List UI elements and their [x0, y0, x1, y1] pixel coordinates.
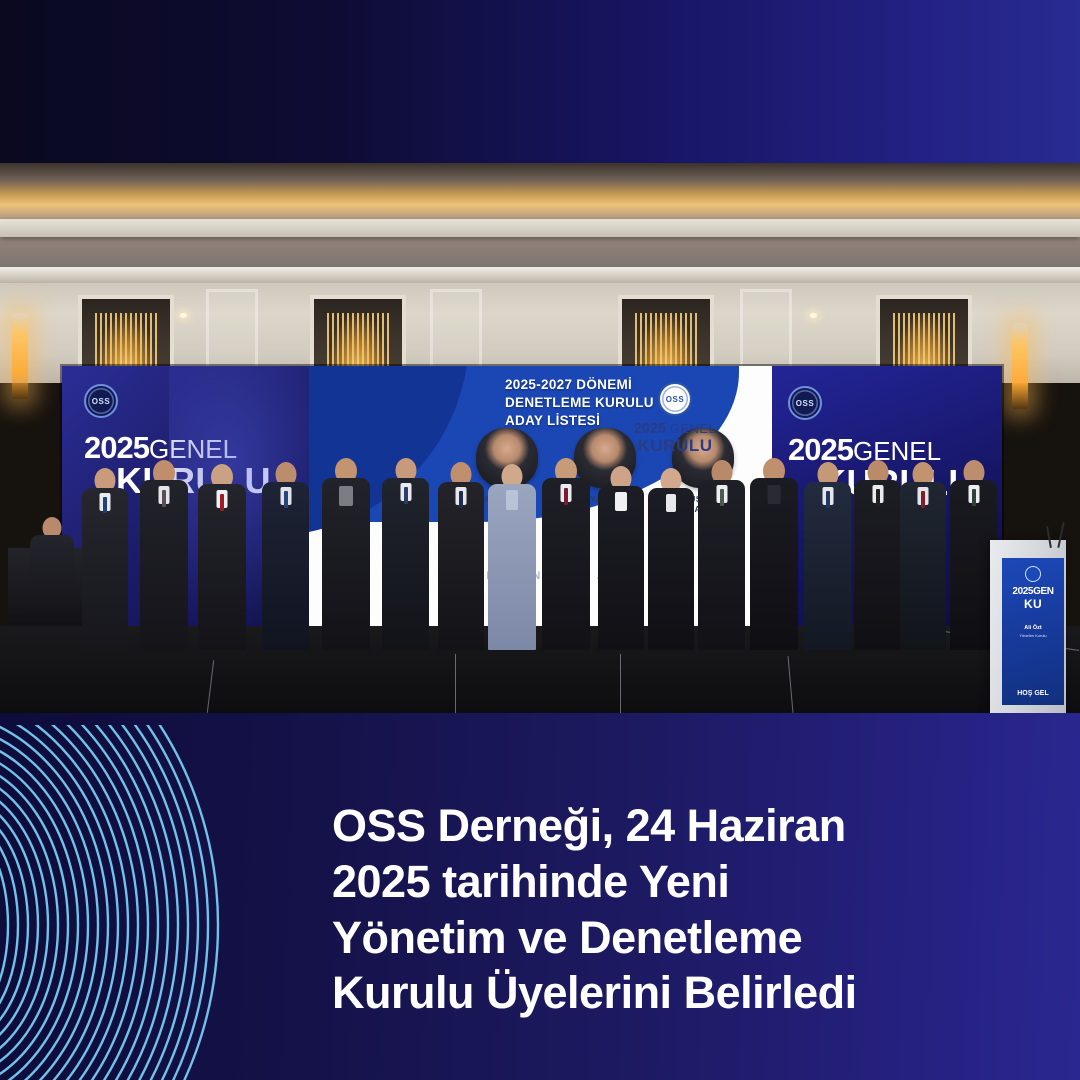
person-tie: [103, 497, 107, 513]
lectern-welcome-text: HOŞ GEL: [1002, 690, 1064, 697]
headline-line-2: 2025 tarihinde Yeni: [332, 854, 972, 910]
person-figure-seated: [30, 517, 74, 613]
person-figure: [82, 468, 128, 650]
oss-logo-icon: OSS: [658, 382, 692, 416]
person-shirt: [768, 485, 781, 504]
screen-corner-logo: OSS 2025 GENEL KURULU: [600, 382, 750, 456]
floor-seam: [455, 654, 456, 713]
person-shirt: [339, 486, 353, 506]
microphone-icon: [1057, 522, 1064, 548]
lectern-year-line: 2025GEN: [1002, 586, 1064, 597]
person-figure: [854, 460, 901, 650]
person-tie: [404, 487, 408, 504]
person-tie: [284, 491, 288, 508]
floor-seam: [788, 656, 794, 713]
person-figure: [488, 464, 536, 650]
lectern-genel: GEN: [1033, 586, 1053, 597]
screen-logo-genel: GENEL: [670, 421, 717, 436]
ballroom-ceiling: [0, 163, 1080, 267]
oss-logo-text: OSS: [796, 399, 814, 408]
lectern-speaker-name: Ali Özt: [1002, 625, 1064, 631]
person-tie: [459, 491, 463, 508]
person-figure: [438, 462, 484, 650]
lectern-kurulu: KU: [1002, 597, 1064, 611]
person-tie: [220, 494, 224, 511]
person-tie: [564, 488, 568, 505]
screen-logo-year-line: 2025 GENEL: [600, 420, 750, 437]
headline-line-3: Yönetim ve Denetleme: [332, 910, 972, 966]
wall-cornice: [0, 267, 1080, 283]
person-body: [30, 535, 74, 613]
person-figure: [750, 458, 798, 650]
lectern: 2025GEN KU Ali Özt Yönetim Kurulu HOŞ GE…: [990, 540, 1066, 713]
event-photo: OSS 2025GENEL KURULU 2025-2027 DÖNEMİ DE…: [0, 163, 1080, 713]
lectern-screen: 2025GEN KU Ali Özt Yönetim Kurulu HOŞ GE…: [1002, 558, 1064, 705]
oss-logo-text: OSS: [666, 395, 684, 404]
bottom-caption-band: OSS Derneği, 24 Haziran 2025 tarihinde Y…: [0, 713, 1080, 1080]
person-shirt: [615, 492, 627, 511]
person-figure: [542, 458, 590, 650]
person-tie: [921, 491, 925, 508]
lectern-year: 2025: [1012, 586, 1033, 597]
downlight-icon: [810, 313, 817, 318]
oss-logo-icon: OSS: [84, 384, 118, 418]
person-body: [648, 488, 694, 650]
top-color-band: [0, 0, 1080, 163]
person-tie: [162, 490, 166, 507]
wall-sconce-icon: [1012, 323, 1028, 409]
floor-seam: [207, 660, 214, 713]
person-figure: [262, 462, 309, 650]
person-figure: [804, 462, 851, 650]
ceiling-soffit: [0, 219, 1080, 237]
oss-logo-text: OSS: [92, 397, 110, 406]
oss-logo-icon: [1025, 566, 1041, 582]
person-figure: [900, 462, 946, 650]
concentric-arc-decoration: [0, 725, 330, 1080]
downlight-icon: [180, 313, 187, 318]
person-figure: [598, 466, 644, 650]
person-shirt: [506, 490, 518, 510]
headline-line-4: Kurulu Üyelerini Belirledi: [332, 965, 972, 1021]
floor-seam: [620, 654, 621, 713]
person-tie: [972, 489, 976, 506]
person-tie: [876, 489, 880, 506]
person-figure: [698, 460, 745, 650]
person-shirt: [666, 494, 676, 512]
banner-year-line: 2025GENEL: [84, 430, 284, 466]
screen-logo-kurulu: KURULU: [600, 437, 750, 456]
social-post-canvas: OSS 2025GENEL KURULU 2025-2027 DÖNEMİ DE…: [0, 0, 1080, 1080]
person-figure: [140, 460, 188, 650]
microphone-icon: [1046, 526, 1052, 548]
oss-logo-icon: OSS: [788, 386, 822, 420]
person-tie: [720, 489, 724, 506]
wall-sconce-icon: [12, 313, 28, 399]
lectern-speaker-title: Yönetim Kurulu: [1002, 633, 1064, 638]
post-headline: OSS Derneği, 24 Haziran 2025 tarihinde Y…: [332, 798, 972, 1021]
person-figure: [198, 464, 246, 650]
person-tie: [826, 491, 830, 508]
person-figure: [322, 458, 370, 650]
person-figure: [648, 468, 694, 650]
person-figure: [382, 458, 429, 650]
headline-line-1: OSS Derneği, 24 Haziran: [332, 798, 972, 854]
screen-logo-year: 2025: [634, 420, 666, 437]
